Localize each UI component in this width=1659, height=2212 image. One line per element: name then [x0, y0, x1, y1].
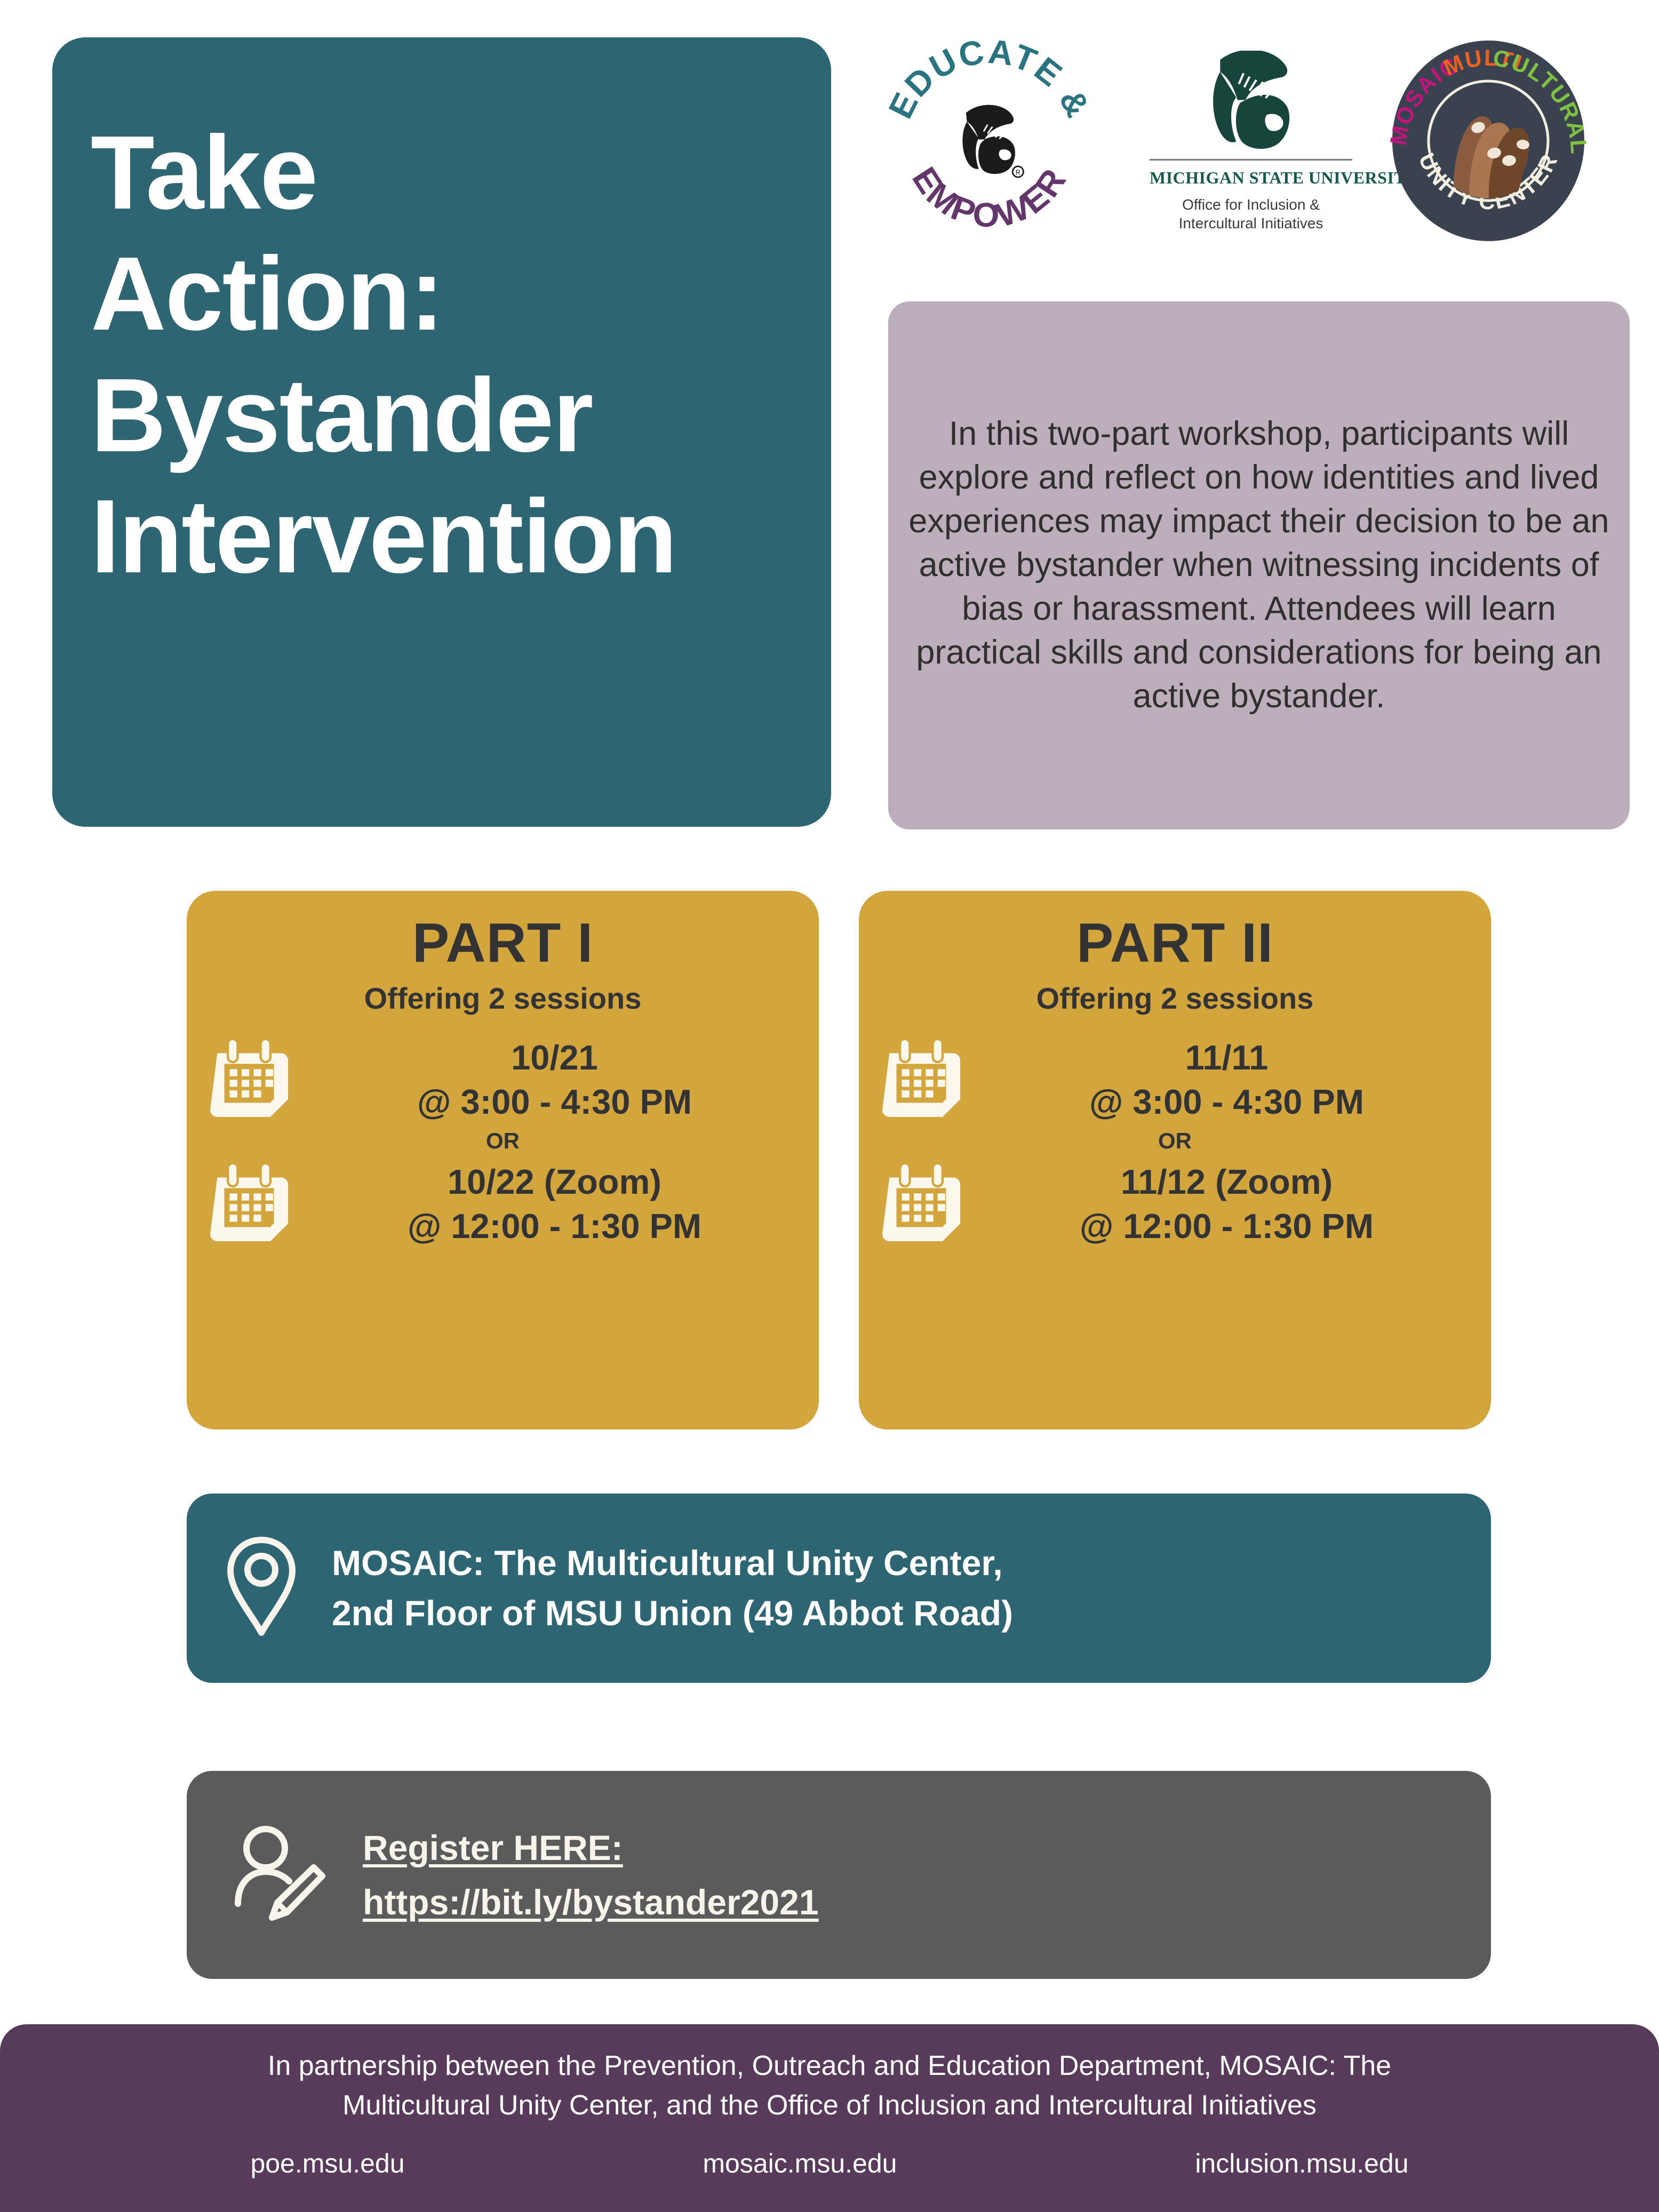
footer-line-1: In partnership between the Prevention, O… [64, 2047, 1595, 2086]
msu-office-line-2: Intercultural Initiatives [1150, 214, 1352, 233]
footer-band: In partnership between the Prevention, O… [0, 2024, 1659, 2212]
part-2-session-1-time: @ 3:00 - 4:30 PM [980, 1080, 1473, 1124]
poster-root: Take Action: Bystander Intervention EDUC… [0, 0, 1659, 2212]
part-2-or-label: OR [877, 1128, 1473, 1154]
part-2-session-2-time: @ 12:00 - 1:30 PM [980, 1204, 1473, 1248]
location-card: MOSAIC: The Multicultural Unity Center, … [187, 1494, 1491, 1683]
educate-empower-logo: EDUCATE & EMPOWER R [883, 35, 1096, 248]
logo-row: EDUCATE & EMPOWER R [854, 29, 1632, 264]
svg-text:R: R [1016, 169, 1020, 177]
spartan-helmet-icon [1150, 51, 1352, 152]
title-line-1: Take [91, 112, 676, 233]
location-line-2: 2nd Floor of MSU Union (49 Abbot Road) [332, 1588, 1013, 1639]
register-url[interactable]: https://bit.ly/bystander2021 [363, 1875, 819, 1929]
part-1-card: PART I Offering 2 sessions [187, 891, 819, 1430]
part-1-session-1-date: 10/21 [308, 1035, 801, 1080]
description-text: In this two-part workshop, participants … [906, 412, 1612, 718]
description-card: In this two-part workshop, participants … [888, 301, 1630, 829]
map-pin-icon [224, 1534, 299, 1643]
part-1-session-1-time: @ 3:00 - 4:30 PM [308, 1080, 801, 1124]
part-2-card: PART II Offering 2 sessions [859, 891, 1491, 1430]
part-2-session-1-date: 11/11 [980, 1035, 1473, 1080]
title-line-4: Intervention [91, 476, 676, 597]
footer-link-inclusion[interactable]: inclusion.msu.edu [1195, 2148, 1408, 2179]
part-1-session-2-date: 10/22 (Zoom) [308, 1160, 801, 1204]
title-card: Take Action: Bystander Intervention [52, 37, 831, 827]
footer-link-poe[interactable]: poe.msu.edu [250, 2148, 404, 2179]
part-1-subtitle: Offering 2 sessions [205, 981, 801, 1016]
calendar-icon [205, 1158, 293, 1249]
msu-university-name: MICHIGAN STATE UNIVERSITY [1150, 168, 1352, 188]
divider [1150, 159, 1352, 161]
page-title: Take Action: Bystander Intervention [91, 112, 676, 597]
title-line-3: Bystander [91, 355, 676, 476]
part-2-session-1: 11/11 @ 3:00 - 4:30 PM [877, 1034, 1473, 1125]
footer-link-mosaic[interactable]: mosaic.msu.edu [703, 2148, 897, 2179]
calendar-icon [205, 1034, 293, 1125]
part-1-session-1: 10/21 @ 3:00 - 4:30 PM [205, 1034, 801, 1125]
part-1-session-2-time: @ 12:00 - 1:30 PM [308, 1204, 801, 1248]
spartan-helmet-icon: R [962, 105, 1023, 178]
part-2-subtitle: Offering 2 sessions [877, 981, 1473, 1016]
title-line-2: Action: [91, 233, 676, 354]
part-1-session-2-text: 10/22 (Zoom) @ 12:00 - 1:30 PM [308, 1160, 801, 1248]
register-card[interactable]: Register HERE: https://bit.ly/bystander2… [187, 1771, 1491, 1979]
calendar-icon [877, 1158, 966, 1249]
michigan-state-university-logo: MICHIGAN STATE UNIVERSITY Office for Inc… [1150, 51, 1352, 243]
footer-links: poe.msu.edu mosaic.msu.edu inclusion.msu… [64, 2148, 1595, 2179]
calendar-icon [877, 1034, 966, 1125]
part-1-or-label: OR [205, 1128, 801, 1154]
location-line-1: MOSAIC: The Multicultural Unity Center, [332, 1538, 1013, 1588]
register-text: Register HERE: https://bit.ly/bystander2… [363, 1820, 819, 1930]
location-text: MOSAIC: The Multicultural Unity Center, … [332, 1538, 1013, 1638]
mosaic-logo: MOSAIC MULTI CULTURAL UNITY CENTER [1390, 39, 1587, 243]
part-2-session-2-date: 11/12 (Zoom) [980, 1160, 1473, 1204]
part-2-session-2: 11/12 (Zoom) @ 12:00 - 1:30 PM [877, 1158, 1473, 1249]
person-edit-icon [229, 1820, 325, 1930]
part-2-session-1-text: 11/11 @ 3:00 - 4:30 PM [980, 1035, 1473, 1124]
part-1-session-1-text: 10/21 @ 3:00 - 4:30 PM [308, 1035, 801, 1124]
msu-office-line-1: Office for Inclusion & [1150, 195, 1352, 214]
part-1-session-2: 10/22 (Zoom) @ 12:00 - 1:30 PM [205, 1158, 801, 1249]
msu-office-name: Office for Inclusion & Intercultural Ini… [1150, 195, 1352, 233]
footer-line-2: Multicultural Unity Center, and the Offi… [64, 2086, 1595, 2126]
part-2-title: PART II [877, 914, 1473, 972]
register-label[interactable]: Register HERE: [363, 1820, 819, 1875]
part-1-title: PART I [205, 914, 801, 972]
part-2-session-2-text: 11/12 (Zoom) @ 12:00 - 1:30 PM [980, 1160, 1473, 1248]
